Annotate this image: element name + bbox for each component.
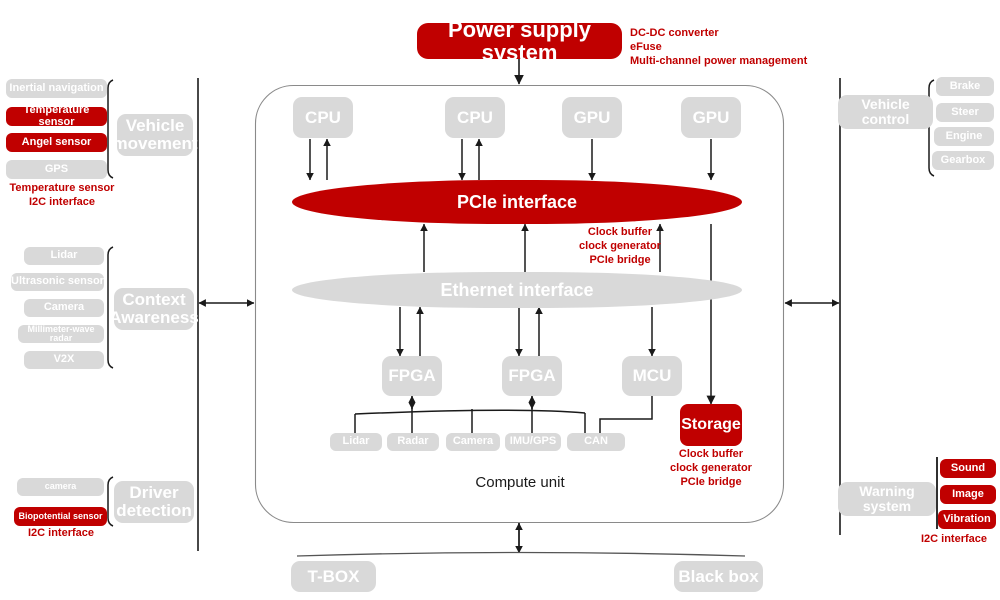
- io-port-label: Radar: [397, 436, 428, 448]
- actuator-brake[interactable]: Brake: [936, 77, 994, 96]
- chip-label: Biopotential sensor: [18, 512, 102, 521]
- bottom-item-label: T-BOX: [308, 568, 360, 586]
- driver-detection-note: I2C interface: [0, 527, 122, 541]
- sensor-biopotential-sensor[interactable]: Biopotential sensor: [14, 507, 107, 526]
- pcie-interface-bar[interactable]: PCIe interface: [292, 180, 742, 224]
- chip-label: Gearbox: [941, 155, 986, 167]
- accelerator-label: MCU: [633, 367, 672, 385]
- actuator-engine[interactable]: Engine: [934, 127, 994, 146]
- io-port-camera[interactable]: Camera: [446, 433, 500, 451]
- sensor-inertial-navigation[interactable]: Inertial navigation: [6, 79, 107, 98]
- storage-box[interactable]: Storage: [680, 404, 742, 446]
- power-note-1: eFuse: [630, 41, 880, 55]
- processor-label: CPU: [457, 109, 493, 127]
- group-label-text: Vehicle control: [842, 97, 929, 126]
- sensor-lidar[interactable]: Lidar: [24, 247, 104, 265]
- io-port-can[interactable]: CAN: [567, 433, 625, 451]
- processor-cpu-2[interactable]: CPU: [445, 97, 505, 138]
- ethernet-interface-label: Ethernet interface: [440, 281, 593, 300]
- storage-label: Storage: [681, 417, 741, 434]
- driver-detection-note-text: I2C interface: [0, 527, 122, 541]
- actuator-steer[interactable]: Steer: [936, 103, 994, 122]
- accelerator-label: FPGA: [508, 367, 555, 385]
- io-port-imu-gps[interactable]: IMU/GPS: [505, 433, 561, 451]
- io-port-label: IMU/GPS: [510, 436, 556, 448]
- power-supply-system-box[interactable]: Power supply system: [417, 23, 622, 59]
- io-port-radar[interactable]: Radar: [387, 433, 439, 451]
- processor-gpu-2[interactable]: GPU: [681, 97, 741, 138]
- actuator-gearbox[interactable]: Gearbox: [932, 151, 994, 170]
- group-label-text: Vehicle movement: [112, 117, 197, 153]
- chip-label: Temperature sensor: [6, 105, 107, 128]
- chip-label: Angel sensor: [22, 137, 92, 149]
- sensor-v2x[interactable]: V2X: [24, 351, 104, 369]
- ethernet-interface-bar[interactable]: Ethernet interface: [292, 272, 742, 308]
- io-port-label: Lidar: [343, 436, 370, 448]
- chip-label: Brake: [950, 81, 981, 93]
- storage-note-text: Clock buffer clock generator PCIe bridge: [650, 448, 772, 489]
- sensor-angel-sensor[interactable]: Angel sensor: [6, 133, 107, 152]
- bottom-item-label: Black box: [678, 568, 758, 586]
- accelerator-mcu[interactable]: MCU: [622, 356, 682, 396]
- power-supply-notes: DC-DC converter eFuse Multi-channel powe…: [630, 27, 880, 68]
- chip-label: Image: [952, 489, 984, 501]
- accelerator-fpga-1[interactable]: FPGA: [382, 356, 442, 396]
- accelerator-label: FPGA: [388, 367, 435, 385]
- pcie-interface-label: PCIe interface: [457, 193, 577, 212]
- warning-system-note: I2C interface: [908, 533, 1000, 547]
- group-label-text: Driver detection: [116, 484, 192, 520]
- chip-label: Sound: [951, 463, 985, 475]
- chip-label: Millimeter-wave radar: [18, 325, 104, 344]
- chip-label: Vibration: [943, 514, 990, 526]
- chip-label: Steer: [951, 107, 979, 119]
- compute-unit-title-text: Compute unit: [475, 474, 564, 491]
- sensor-camera[interactable]: Camera: [24, 299, 104, 317]
- pcie-note: Clock buffer clock generator PCIe bridge: [540, 226, 700, 267]
- vehicle-movement-note: Temperature sensor I2C interface: [0, 182, 124, 210]
- bottom-item-t-box[interactable]: T-BOX: [291, 561, 376, 592]
- group-label-vehicle-control[interactable]: Vehicle control: [838, 95, 933, 129]
- group-label-context-awareness[interactable]: Context Awareness: [114, 288, 194, 330]
- group-label-driver-detection[interactable]: Driver detection: [114, 481, 194, 523]
- power-note-0: DC-DC converter: [630, 27, 880, 41]
- io-port-label: CAN: [584, 436, 608, 448]
- processor-label: CPU: [305, 109, 341, 127]
- processor-label: GPU: [574, 109, 611, 127]
- group-label-text: Warning system: [842, 484, 932, 513]
- chip-label: V2X: [54, 354, 75, 366]
- group-label-text: Context Awareness: [109, 291, 198, 327]
- chip-label: camera: [45, 482, 77, 491]
- bottom-item-black-box[interactable]: Black box: [674, 561, 763, 592]
- warning-system-note-text: I2C interface: [908, 533, 1000, 547]
- chip-label: Inertial navigation: [9, 83, 103, 95]
- sensor-ultrasonic-sensor[interactable]: Ultrasonic sensor: [11, 273, 104, 291]
- io-port-label: Camera: [453, 436, 493, 448]
- power-supply-system-label: Power supply system: [417, 18, 622, 64]
- sensor-gps[interactable]: GPS: [6, 160, 107, 179]
- accelerator-fpga-2[interactable]: FPGA: [502, 356, 562, 396]
- processor-cpu-1[interactable]: CPU: [293, 97, 353, 138]
- compute-unit-title: Compute unit: [430, 474, 610, 491]
- warning-output-vibration[interactable]: Vibration: [938, 510, 996, 529]
- chip-label: Camera: [44, 302, 84, 314]
- group-label-warning-system[interactable]: Warning system: [838, 482, 936, 516]
- vehicle-movement-note-line-0: Temperature sensor I2C interface: [0, 182, 124, 210]
- chip-label: Engine: [946, 131, 983, 143]
- warning-output-sound[interactable]: Sound: [940, 459, 996, 478]
- pcie-note-text: Clock buffer clock generator PCIe bridge: [540, 226, 700, 267]
- chip-label: Lidar: [51, 250, 78, 262]
- power-note-2: Multi-channel power management: [630, 55, 880, 69]
- processor-label: GPU: [693, 109, 730, 127]
- storage-note: Clock buffer clock generator PCIe bridge: [650, 448, 772, 489]
- processor-gpu-1[interactable]: GPU: [562, 97, 622, 138]
- warning-output-image[interactable]: Image: [940, 485, 996, 504]
- sensor-temperature-sensor[interactable]: Temperature sensor: [6, 107, 107, 126]
- io-port-lidar[interactable]: Lidar: [330, 433, 382, 451]
- chip-label: Ultrasonic sensor: [11, 276, 104, 288]
- sensor-millimeter-wave-radar[interactable]: Millimeter-wave radar: [18, 325, 104, 343]
- group-label-vehicle-movement[interactable]: Vehicle movement: [117, 114, 193, 156]
- sensor-driver-camera[interactable]: camera: [17, 478, 104, 496]
- chip-label: GPS: [45, 164, 68, 176]
